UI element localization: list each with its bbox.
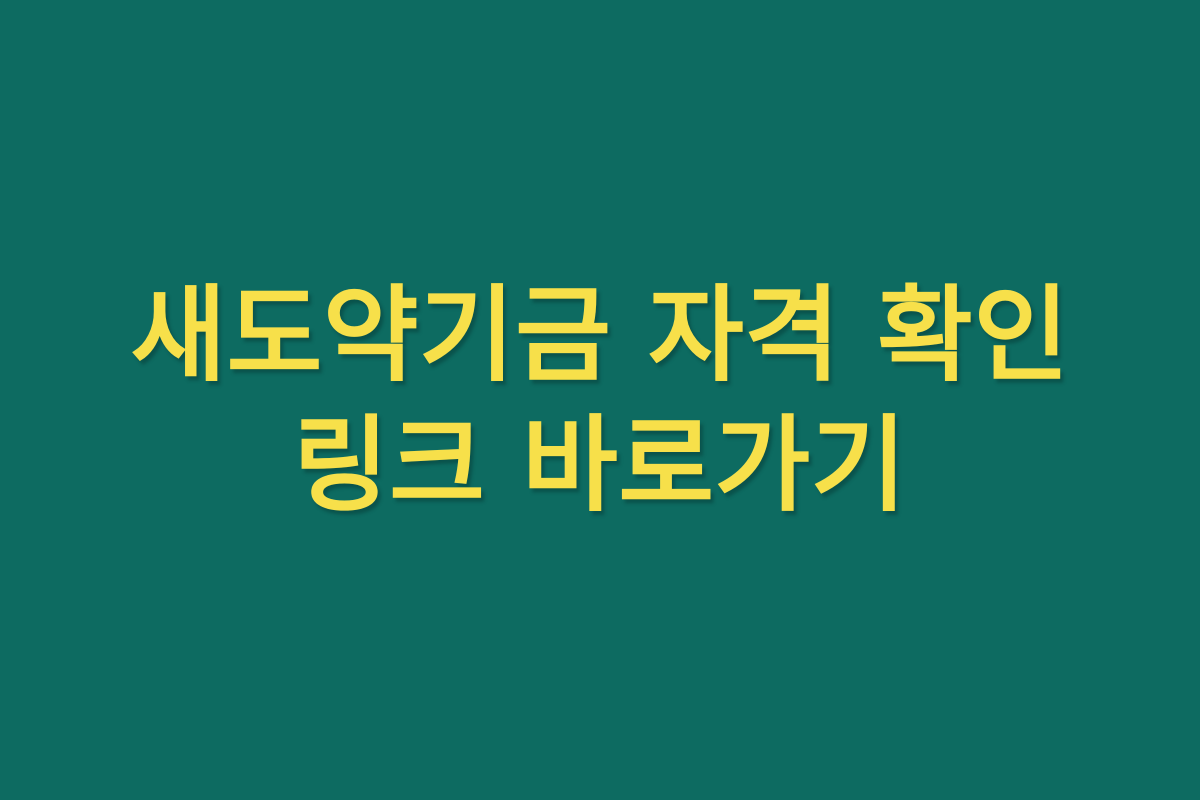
page-title: 새도약기금 자격 확인 링크 바로가기 xyxy=(70,270,1130,530)
banner-canvas: 새도약기금 자격 확인 링크 바로가기 xyxy=(0,0,1200,800)
